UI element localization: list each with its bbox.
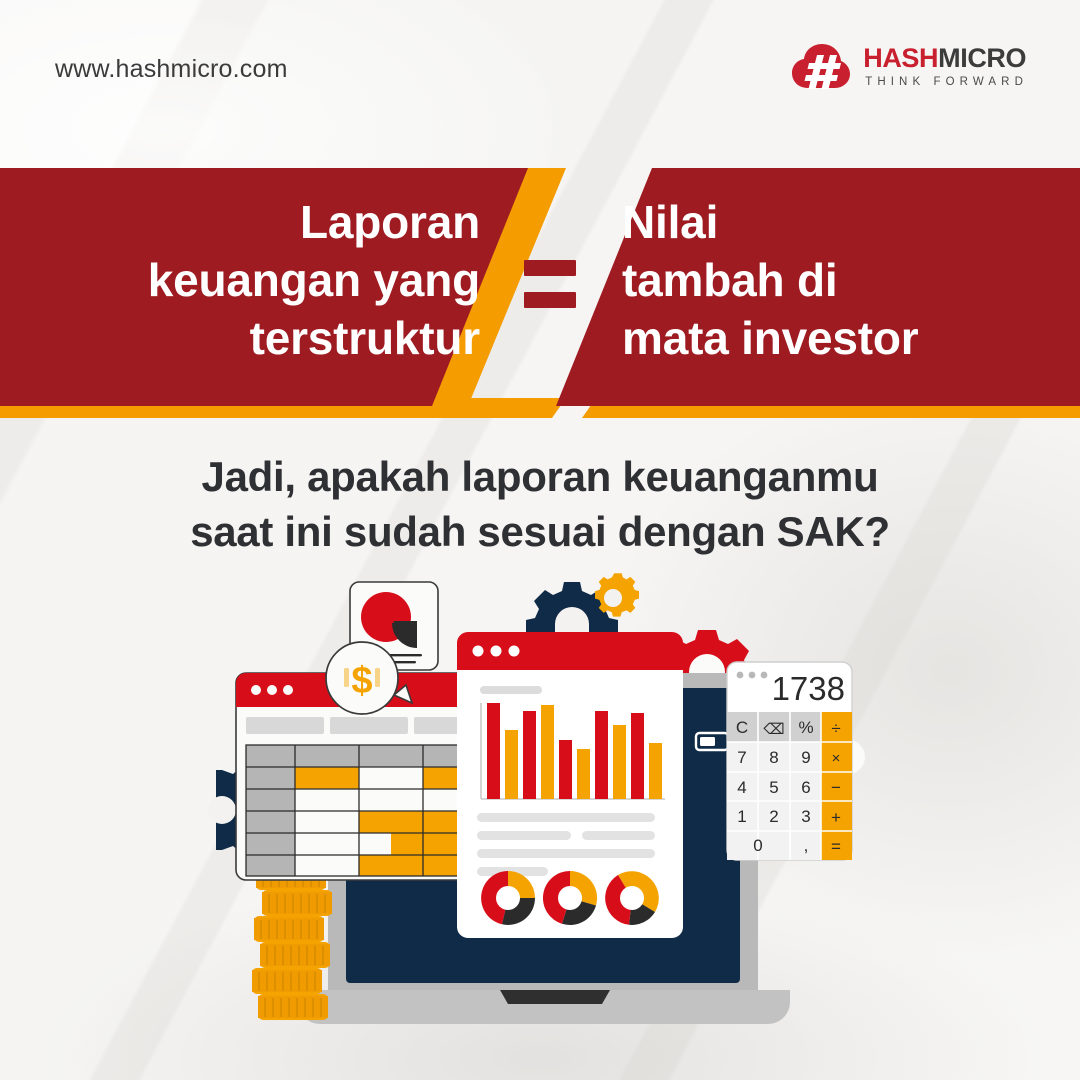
toolbar-chip (246, 717, 324, 734)
bar (559, 740, 572, 799)
calculator-key-divide[interactable]: ÷ (831, 719, 840, 738)
calculator-key-minus[interactable]: − (831, 778, 841, 797)
window-dot (761, 672, 768, 679)
calculator-key-clear[interactable]: C (736, 718, 748, 737)
calculator-key-4[interactable]: 4 (737, 778, 746, 797)
calculator-key-backspace[interactable]: ⌫ (763, 721, 784, 738)
window-dot (283, 685, 293, 695)
coin-row (252, 968, 322, 994)
hashmicro-logo: HASHMICRO THINK FORWARD (792, 44, 1028, 90)
calculator-key-8[interactable]: 8 (769, 748, 778, 767)
text-line (582, 831, 655, 840)
calculator-key-7[interactable]: 7 (737, 748, 746, 767)
window-dot (737, 672, 744, 679)
text-line (477, 831, 571, 840)
logo-wordmark: HASHMICRO THINK FORWARD (863, 45, 1028, 89)
hashmicro-cloud-hash-icon (792, 44, 850, 90)
subtitle-question: Jadi, apakah laporan keuanganmu saat ini… (0, 450, 1080, 559)
bar (631, 713, 644, 799)
donut-chart (605, 871, 659, 925)
window-dot (491, 646, 502, 657)
calculator-key-2[interactable]: 2 (769, 807, 778, 826)
calculator-display: 1738 (772, 670, 845, 707)
calculator-key-multiply[interactable]: × (832, 750, 841, 767)
text-line (477, 849, 655, 858)
bar (487, 703, 500, 799)
calculator: 1738 C ⌫ % ÷ 7 8 9 × 4 5 6 − (727, 662, 852, 860)
dashboard-window (457, 632, 683, 938)
bar (541, 705, 554, 799)
grid-cell-highlight (359, 855, 423, 876)
grid-cell-highlight (359, 811, 423, 833)
window-dot (251, 685, 261, 695)
headline-banner: Laporan keuangan yang terstruktur Nilai … (0, 168, 1080, 418)
finance-illustration: $ (0, 560, 1080, 1080)
window-dot (749, 672, 756, 679)
laptop-trackpad-notch (500, 990, 610, 1004)
window-dot (267, 685, 277, 695)
bar (649, 743, 662, 799)
coin-stack (252, 864, 332, 1020)
gear-orange-small-icon (595, 573, 639, 616)
calculator-key-6[interactable]: 6 (801, 778, 810, 797)
grid-cell-highlight (391, 833, 423, 855)
coin-row (262, 890, 332, 916)
window-dot (473, 646, 484, 657)
logo-tagline: THINK FORWARD (863, 77, 1028, 89)
coin-row (258, 994, 328, 1020)
calculator-key-5[interactable]: 5 (769, 778, 778, 797)
calculator-key-equals[interactable]: = (831, 837, 841, 856)
calculator-key-comma[interactable]: , (804, 836, 809, 855)
toolbar-chip (330, 717, 408, 734)
bar (613, 725, 626, 799)
calculator-key-0[interactable]: 0 (753, 836, 762, 855)
coin-row (260, 942, 330, 968)
subtitle-line2: saat ini sudah sesuai dengan SAK? (0, 505, 1080, 560)
banner-right-panel (556, 168, 1080, 406)
calculator-key-9[interactable]: 9 (801, 748, 810, 767)
donut-chart (481, 871, 535, 925)
calculator-key-1[interactable]: 1 (737, 807, 746, 826)
illustration-artwork: $ (0, 560, 1080, 1080)
calculator-key-3[interactable]: 3 (801, 807, 810, 826)
grid-cell-highlight (295, 767, 359, 789)
bar (595, 711, 608, 799)
bar (523, 711, 536, 799)
calculator-key-plus[interactable]: + (831, 808, 841, 827)
bar (577, 749, 590, 799)
window-dot (509, 646, 520, 657)
dollar-glyph: $ (351, 660, 372, 702)
banner-shapes (0, 168, 1080, 418)
text-line (477, 813, 655, 822)
logo-name-hash: HASH (863, 43, 938, 73)
logo-name-micro: MICRO (938, 43, 1026, 73)
dashboard-title-placeholder (480, 686, 542, 694)
site-url: www.hashmicro.com (55, 55, 288, 84)
calculator-key-percent[interactable]: % (798, 718, 813, 737)
coin-row (254, 916, 324, 942)
subtitle-line1: Jadi, apakah laporan keuanganmu (0, 450, 1080, 505)
bar (505, 730, 518, 799)
logo-name: HASHMICRO (863, 45, 1028, 72)
donut-chart (543, 871, 597, 925)
